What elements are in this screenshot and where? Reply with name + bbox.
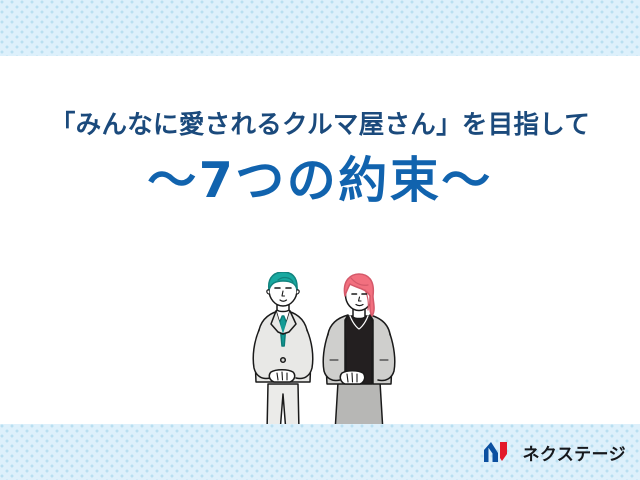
nextage-n-mark-icon bbox=[482, 440, 516, 464]
headline-line-2: 〜7つの約束〜 bbox=[0, 154, 640, 208]
headline-line-1: 「みんなに愛されるクルマ屋さん」を目指して bbox=[0, 110, 640, 142]
headline-block: 「みんなに愛されるクルマ屋さん」を目指して 〜7つの約束〜 bbox=[0, 110, 640, 208]
nextage-logo-text: ネクステージ bbox=[522, 440, 626, 465]
logo-mark-blue-shape bbox=[484, 442, 498, 462]
staff-illustration-svg bbox=[238, 272, 418, 432]
logo-mark-red-shape bbox=[500, 442, 507, 461]
polka-dot-band-top bbox=[0, 0, 640, 56]
male-ear-right bbox=[297, 290, 300, 294]
promo-banner: 「みんなに愛されるクルマ屋さん」を目指して 〜7つの約束〜 bbox=[0, 0, 640, 480]
nextage-logo: ネクステージ bbox=[482, 437, 626, 467]
female-staff-figure bbox=[323, 274, 395, 432]
male-ear-left bbox=[267, 290, 270, 294]
male-staff-figure bbox=[253, 272, 313, 432]
staff-illustration bbox=[238, 272, 418, 432]
male-jacket-button bbox=[281, 358, 286, 363]
